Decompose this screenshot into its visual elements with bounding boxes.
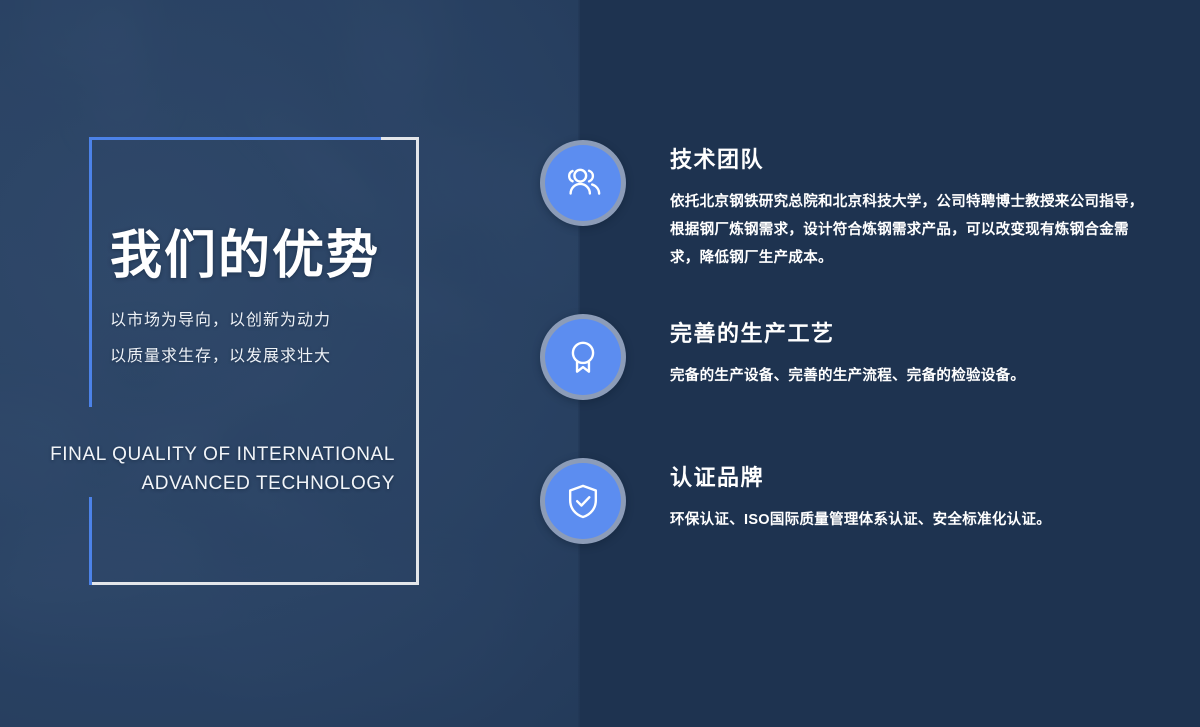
- slogan-line-1: 以市场为导向，以创新为动力: [110, 303, 440, 339]
- users-group-icon: [540, 140, 626, 226]
- headline-block: 我们的优势 以市场为导向，以创新为动力 以质量求生存，以发展求壮大: [110, 225, 440, 375]
- frame-edge-left-lower: [89, 497, 92, 585]
- frame-edge-top-light: [381, 137, 419, 140]
- feature-item-technical-team: 技术团队 依托北京钢铁研究总院和北京科技大学，公司特聘博士教授来公司指导，根据钢…: [540, 140, 1180, 272]
- frame-edge-left-upper: [89, 137, 92, 407]
- feature-description: 依托北京钢铁研究总院和北京科技大学，公司特聘博士教授来公司指导，根据钢厂炼钢需求…: [670, 188, 1150, 272]
- feature-title: 技术团队: [670, 146, 1150, 174]
- feature-title: 完善的生产工艺: [670, 320, 1150, 348]
- award-ribbon-icon: [540, 314, 626, 400]
- shield-check-icon: [540, 458, 626, 544]
- feature-list: 技术团队 依托北京钢铁研究总院和北京科技大学，公司特聘博士教授来公司指导，根据钢…: [540, 140, 1180, 544]
- frame-edge-top-accent: [89, 137, 383, 140]
- feature-title: 认证品牌: [670, 464, 1150, 492]
- frame-edge-bottom: [89, 582, 419, 585]
- feature-item-certified-brand: 认证品牌 环保认证、ISO国际质量管理体系认证、安全标准化认证。: [540, 458, 1180, 544]
- feature-description: 环保认证、ISO国际质量管理体系认证、安全标准化认证。: [670, 506, 1150, 534]
- feature-description: 完备的生产设备、完善的生产流程、完备的检验设备。: [670, 362, 1150, 390]
- slide-canvas: 我们的优势 以市场为导向，以创新为动力 以质量求生存，以发展求壮大 FINAL …: [0, 0, 1200, 727]
- slogan-group: 以市场为导向，以创新为动力 以质量求生存，以发展求壮大: [110, 303, 440, 375]
- page-title: 我们的优势: [110, 225, 440, 287]
- english-subtitle: FINAL QUALITY OF INTERNATIONAL ADVANCED …: [25, 440, 395, 498]
- feature-text-block: 认证品牌 环保认证、ISO国际质量管理体系认证、安全标准化认证。: [670, 458, 1150, 534]
- english-subtitle-line-1: FINAL QUALITY OF INTERNATIONAL: [25, 440, 395, 469]
- slogan-line-2: 以质量求生存，以发展求壮大: [110, 339, 440, 375]
- feature-text-block: 完善的生产工艺 完备的生产设备、完善的生产流程、完备的检验设备。: [670, 314, 1150, 390]
- english-subtitle-line-2: ADVANCED TECHNOLOGY: [25, 469, 395, 498]
- feature-text-block: 技术团队 依托北京钢铁研究总院和北京科技大学，公司特聘博士教授来公司指导，根据钢…: [670, 140, 1150, 272]
- feature-item-production-process: 完善的生产工艺 完备的生产设备、完善的生产流程、完备的检验设备。: [540, 314, 1180, 400]
